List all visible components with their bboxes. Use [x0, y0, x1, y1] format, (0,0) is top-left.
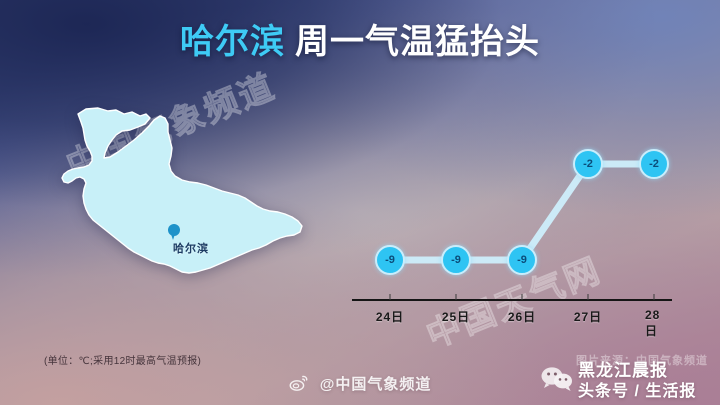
weibo-icon	[289, 373, 309, 393]
x-axis-label: 26日	[508, 308, 536, 325]
data-point[interactable]: -9	[507, 245, 537, 275]
data-point[interactable]: -9	[441, 245, 471, 275]
infographic-canvas: 中国气象频道 中国天气网 哈尔滨周一气温猛抬头 哈尔滨 -9 -9 -9 -2	[0, 0, 720, 405]
x-axis-label: 25日	[442, 308, 470, 325]
brand-line-2: 头条号 / 生活报	[578, 381, 710, 402]
x-axis-label: 28日	[645, 308, 663, 339]
map-city-label: 哈尔滨	[173, 240, 209, 256]
data-point[interactable]: -9	[375, 245, 405, 275]
map-pin-icon	[168, 224, 180, 241]
page-title: 哈尔滨周一气温猛抬头	[0, 14, 720, 63]
weibo-handle: @中国气象频道	[320, 376, 432, 393]
title-rest: 周一气温猛抬头	[295, 23, 540, 61]
wechat-icon	[540, 364, 574, 392]
data-point[interactable]: -2	[573, 149, 603, 179]
temperature-chart: -9 -9 -9 -2 -2 24日 25日 26日 27日 28日	[352, 128, 672, 328]
x-axis-label: 24日	[376, 308, 404, 325]
map-heilongjiang: 哈尔滨	[42, 78, 342, 308]
brand-text: 黑龙江晨报 头条号 / 生活报	[578, 360, 710, 402]
title-city: 哈尔滨	[180, 23, 285, 61]
brand-line-1: 黑龙江晨报	[578, 360, 710, 381]
brand-block: 黑龙江晨报 头条号 / 生活报	[540, 360, 710, 404]
data-point[interactable]: -2	[639, 149, 669, 179]
chart-footnote: (单位：℃;采用12时最高气温预报)	[44, 352, 201, 367]
x-axis-label: 27日	[574, 308, 602, 325]
